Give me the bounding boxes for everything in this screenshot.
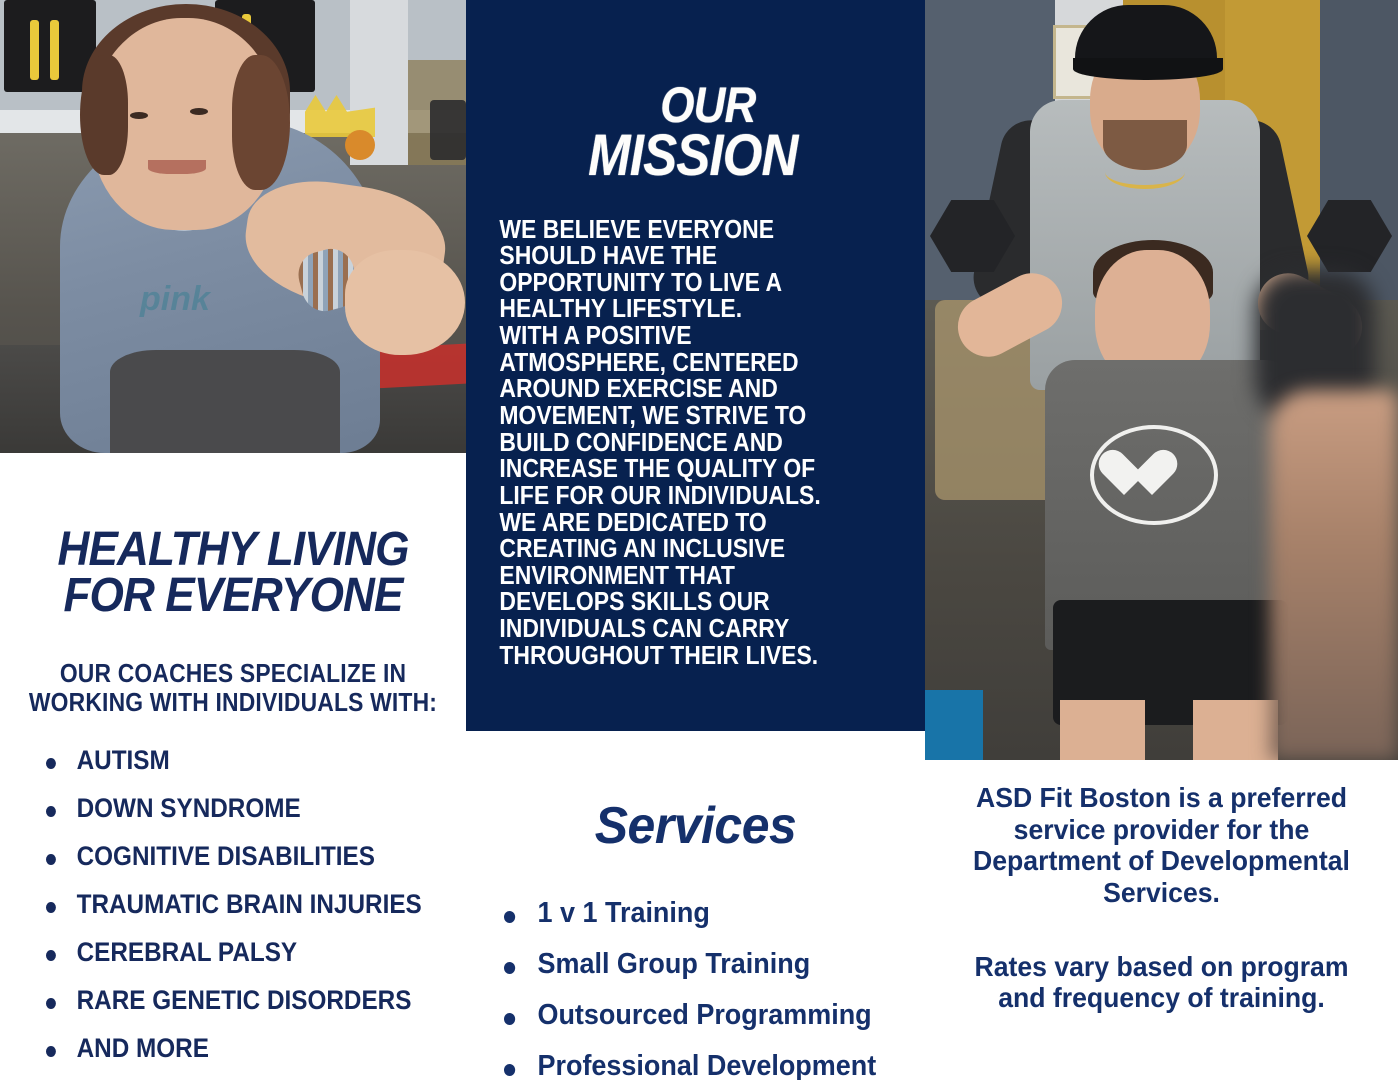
healthy-living-subtitle: OUR COACHES SPECIALIZE IN WORKING WITH I… (28, 659, 438, 717)
trx-strap-2 (50, 20, 59, 80)
medicine-ball (345, 130, 375, 160)
mouth (148, 160, 206, 174)
woman-hand (345, 250, 465, 355)
list-item: AND MORE (46, 1035, 424, 1062)
mission-body-text: WE BELIEVE EVERYONE SHOULD HAVE THE OPPO… (494, 217, 857, 670)
heart-icon (1124, 451, 1178, 499)
poster-canvas: pink OUR MISSION WE BELIEVE EVERYONE SHO… (0, 0, 1398, 1080)
eye-right (190, 108, 208, 115)
trx-strap-1 (30, 20, 39, 80)
services-heading: Services (475, 774, 916, 856)
list-item: RARE GENETIC DISORDERS (46, 987, 424, 1014)
list-item: TRAUMATIC BRAIN INJURIES (46, 891, 424, 918)
provider-note-section: ASD Fit Boston is a preferred service pr… (925, 760, 1398, 1080)
blue-equipment-bin (925, 690, 983, 760)
services-section: Services 1 v 1 Training Small Group Trai… (466, 731, 925, 1080)
conditions-list: AUTISM DOWN SYNDROME COGNITIVE DISABILIT… (0, 747, 466, 1062)
rates-text: Rates vary based on program and frequenc… (960, 951, 1364, 1014)
mission-paragraph-1: WE BELIEVE EVERYONE SHOULD HAVE THE OPPO… (499, 217, 856, 324)
photo-woman-stretching: pink (0, 0, 466, 453)
healthy-heading-line1: HEALTHY LIVING (19, 527, 448, 573)
mission-paragraph-2: WITH A POSITIVE ATMOSPHERE, CENTERED ARO… (499, 323, 856, 669)
list-item: DOWN SYNDROME (46, 795, 424, 822)
woman-hair-left (80, 55, 128, 175)
healthy-living-section: HEALTHY LIVING FOR EVERYONE OUR COACHES … (0, 453, 466, 1080)
eye-left (130, 112, 148, 119)
asd-fit-boston-shirt-logo (1090, 425, 1218, 525)
our-mission-panel: OUR MISSION WE BELIEVE EVERYONE SHOULD H… (466, 0, 925, 731)
mission-heading-line1: OUR (543, 82, 873, 129)
client-leg-right (1193, 700, 1278, 760)
healthy-living-heading: HEALTHY LIVING FOR EVERYONE (19, 493, 448, 619)
coach-necklace (1105, 155, 1185, 189)
services-list: 1 v 1 Training Small Group Training Outs… (466, 899, 925, 1080)
list-item: AUTISM (46, 747, 424, 774)
healthy-subtitle-line1: OUR COACHES SPECIALIZE IN (28, 659, 438, 688)
preferred-provider-text: ASD Fit Boston is a preferred service pr… (960, 782, 1364, 909)
list-item: CEREBRAL PALSY (46, 939, 424, 966)
list-item: 1 v 1 Training (504, 899, 896, 928)
list-item: COGNITIVE DISABILITIES (46, 843, 424, 870)
photo-coach-and-client (925, 0, 1398, 760)
woman-hair-right (232, 55, 290, 190)
list-item: Professional Development (504, 1052, 896, 1080)
healthy-heading-line2: FOR EVERYONE (19, 573, 448, 619)
our-mission-heading: OUR MISSION (518, 34, 873, 184)
dumbbell-stack-icon (430, 100, 466, 160)
woman-pants (110, 350, 340, 453)
foreground-blur-person (1270, 390, 1398, 760)
note-spacer (949, 909, 1374, 951)
list-item: Outsourced Programming (504, 1001, 896, 1030)
client-leg-left (1060, 700, 1145, 760)
cap-brim (1073, 58, 1223, 80)
list-item: Small Group Training (504, 950, 896, 979)
mission-heading-line2: MISSION (513, 129, 873, 184)
shirt-graphic-text: pink (140, 280, 270, 320)
healthy-subtitle-line2: WORKING WITH INDIVIDUALS WITH: (28, 688, 438, 717)
